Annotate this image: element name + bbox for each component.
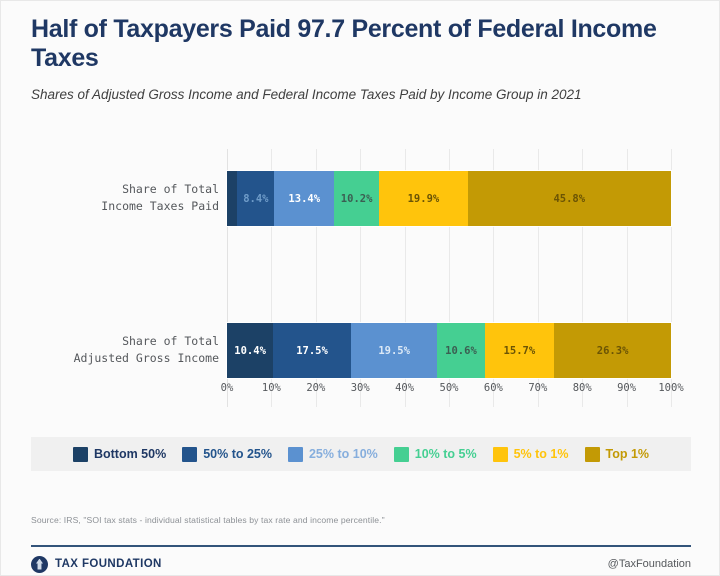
legend-swatch-icon: [288, 447, 303, 462]
legend-label: 25% to 10%: [309, 447, 378, 461]
bar-segment-50-to-25: 8.4%: [237, 171, 274, 226]
x-tick-label: 60%: [484, 382, 503, 394]
legend-label: 50% to 25%: [203, 447, 272, 461]
x-tick-label: 70%: [528, 382, 547, 394]
legend-label: Bottom 50%: [94, 447, 166, 461]
bar-segment-bottom-50: 10.4%: [227, 323, 273, 378]
bar-segment-label: 10.6%: [445, 345, 477, 357]
chart-legend: Bottom 50%50% to 25%25% to 10%10% to 5%5…: [31, 437, 691, 471]
bar-segment-label: 13.4%: [288, 193, 320, 205]
shield-logo-icon: [31, 556, 48, 573]
bar-segment-label: 19.9%: [408, 193, 440, 205]
bar-segment-top-1: 45.8%: [468, 171, 671, 226]
bar-segment-10-to-5: 10.2%: [334, 171, 379, 226]
category-label-income-taxes-paid: Share of Total Income Taxes Paid: [47, 181, 219, 214]
bar-segment-label: 15.7%: [504, 345, 536, 357]
bar-segment-label: 19.5%: [378, 345, 410, 357]
brand-name: TAX FOUNDATION: [55, 558, 162, 570]
chart-subtitle: Shares of Adjusted Gross Income and Fede…: [31, 85, 681, 105]
bar-segment-5-to-1: 15.7%: [485, 323, 555, 378]
legend-swatch-icon: [182, 447, 197, 462]
legend-label: 5% to 1%: [514, 447, 569, 461]
legend-label: Top 1%: [606, 447, 650, 461]
stacked-bar-income-taxes-paid: 2.3%8.4%13.4%10.2%19.9%45.8%: [227, 171, 671, 226]
x-tick-label: 20%: [306, 382, 325, 394]
bar-segment-label: 10.4%: [234, 345, 266, 357]
bar-segment-top-1: 26.3%: [554, 323, 671, 378]
x-tick-label: 80%: [573, 382, 592, 394]
chart-card: Half of Taxpayers Paid 97.7 Percent of F…: [0, 0, 720, 576]
legend-item-25-to-10[interactable]: 25% to 10%: [288, 447, 378, 462]
bar-segment-label: 26.3%: [597, 345, 629, 357]
x-axis: 0%10%20%30%40%50%60%70%80%90%100%: [227, 382, 671, 402]
plot-area: 2.3%8.4%13.4%10.2%19.9%45.8% 10.4%17.5%1…: [227, 149, 671, 407]
bar-segment-25-to-10: 13.4%: [274, 171, 333, 226]
brand-logo: TAX FOUNDATION: [31, 556, 162, 573]
x-tick-label: 100%: [658, 382, 683, 394]
footer-divider: [31, 545, 691, 547]
bar-segment-50-to-25: 17.5%: [273, 323, 351, 378]
bar-segment-5-to-1: 19.9%: [379, 171, 467, 226]
legend-item-10-to-5[interactable]: 10% to 5%: [394, 447, 477, 462]
gridline-100: [671, 149, 672, 407]
legend-item-50-to-25[interactable]: 50% to 25%: [182, 447, 272, 462]
bar-segment-label: 8.4%: [243, 193, 268, 205]
bar-segment-label: 45.8%: [553, 193, 585, 205]
bar-segment-25-to-10: 19.5%: [351, 323, 438, 378]
x-tick-label: 30%: [351, 382, 370, 394]
x-tick-label: 0%: [221, 382, 234, 394]
legend-swatch-icon: [585, 447, 600, 462]
legend-item-bottom-50[interactable]: Bottom 50%: [73, 447, 166, 462]
footer: TAX FOUNDATION @TaxFoundation: [31, 553, 691, 575]
legend-swatch-icon: [493, 447, 508, 462]
bar-segment-10-to-5: 10.6%: [437, 323, 484, 378]
bar-segment-bottom-50: 2.3%: [227, 171, 237, 226]
x-tick-label: 50%: [440, 382, 459, 394]
legend-item-top-1[interactable]: Top 1%: [585, 447, 650, 462]
x-tick-label: 10%: [262, 382, 281, 394]
bar-segment-label: 10.2%: [341, 193, 373, 205]
social-handle: @TaxFoundation: [608, 558, 691, 570]
page-title: Half of Taxpayers Paid 97.7 Percent of F…: [31, 15, 671, 73]
x-tick-label: 90%: [617, 382, 636, 394]
legend-item-5-to-1[interactable]: 5% to 1%: [493, 447, 569, 462]
legend-swatch-icon: [394, 447, 409, 462]
bar-segment-label: 17.5%: [296, 345, 328, 357]
legend-swatch-icon: [73, 447, 88, 462]
stacked-bar-adjusted-gross-income: 10.4%17.5%19.5%10.6%15.7%26.3%: [227, 323, 671, 378]
legend-label: 10% to 5%: [415, 447, 477, 461]
category-label-adjusted-gross-income: Share of Total Adjusted Gross Income: [47, 333, 219, 366]
source-note: Source: IRS, "SOI tax stats - individual…: [31, 515, 385, 525]
x-tick-label: 40%: [395, 382, 414, 394]
